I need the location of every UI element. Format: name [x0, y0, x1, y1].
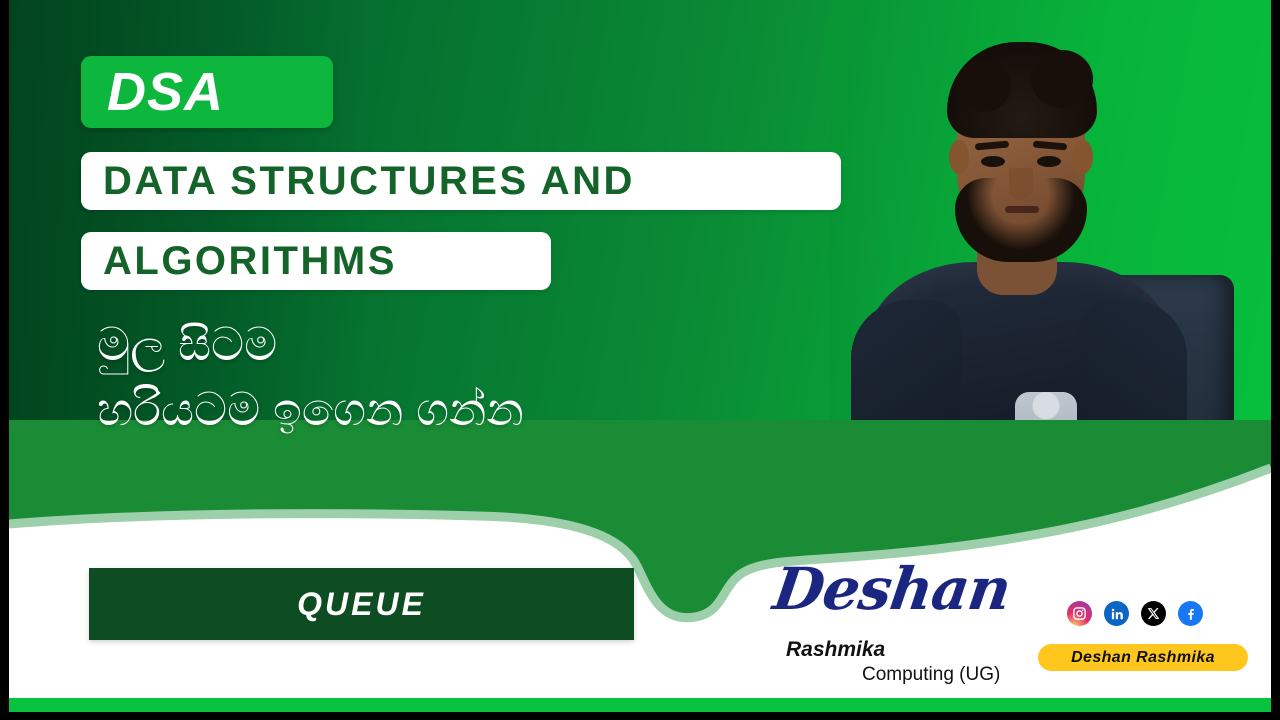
- presenter-left-eye: [981, 156, 1005, 167]
- presenter-hair: [947, 42, 1097, 138]
- linkedin-icon[interactable]: [1104, 601, 1129, 626]
- thumbnail-canvas: DSA DATA STRUCTURES AND ALGORITHMS මුල ස…: [9, 0, 1271, 712]
- title-line-2-text: ALGORITHMS: [81, 241, 397, 281]
- footer-accent-bar: [9, 698, 1271, 712]
- channel-handle-badge[interactable]: Deshan Rashmika: [1038, 644, 1248, 671]
- video-thumbnail: DSA DATA STRUCTURES AND ALGORITHMS මුල ස…: [0, 0, 1280, 720]
- presenter-nose: [1009, 168, 1033, 200]
- presenter-mouth: [1005, 206, 1039, 213]
- facebook-icon[interactable]: [1178, 601, 1203, 626]
- presenter-right-ear: [1073, 140, 1093, 174]
- presenter-left-ear: [949, 140, 969, 174]
- x-twitter-icon[interactable]: [1141, 601, 1166, 626]
- signature-qualification: Computing (UG): [862, 664, 1000, 686]
- topic-box: QUEUE: [89, 568, 634, 640]
- signature-block: Deshan Rashmika Computing (UG): [774, 560, 1044, 680]
- title-line-2-box: ALGORITHMS: [81, 232, 551, 290]
- presenter-right-eye: [1037, 156, 1061, 167]
- instagram-icon[interactable]: [1067, 601, 1092, 626]
- social-icon-row: [1067, 601, 1203, 626]
- dsa-badge: DSA: [81, 56, 333, 128]
- topic-label: QUEUE: [297, 586, 426, 623]
- title-line-1-box: DATA STRUCTURES AND: [81, 152, 841, 210]
- dsa-badge-label: DSA: [81, 65, 224, 119]
- sinhala-subtitle: මුල සිටම හරියටම ඉගෙන ගන්න: [97, 312, 524, 443]
- signature-surname: Rashmika: [786, 638, 885, 662]
- title-line-1-text: DATA STRUCTURES AND: [81, 161, 635, 201]
- signature-name: Deshan: [770, 560, 1014, 618]
- channel-handle-label: Deshan Rashmika: [1071, 649, 1215, 667]
